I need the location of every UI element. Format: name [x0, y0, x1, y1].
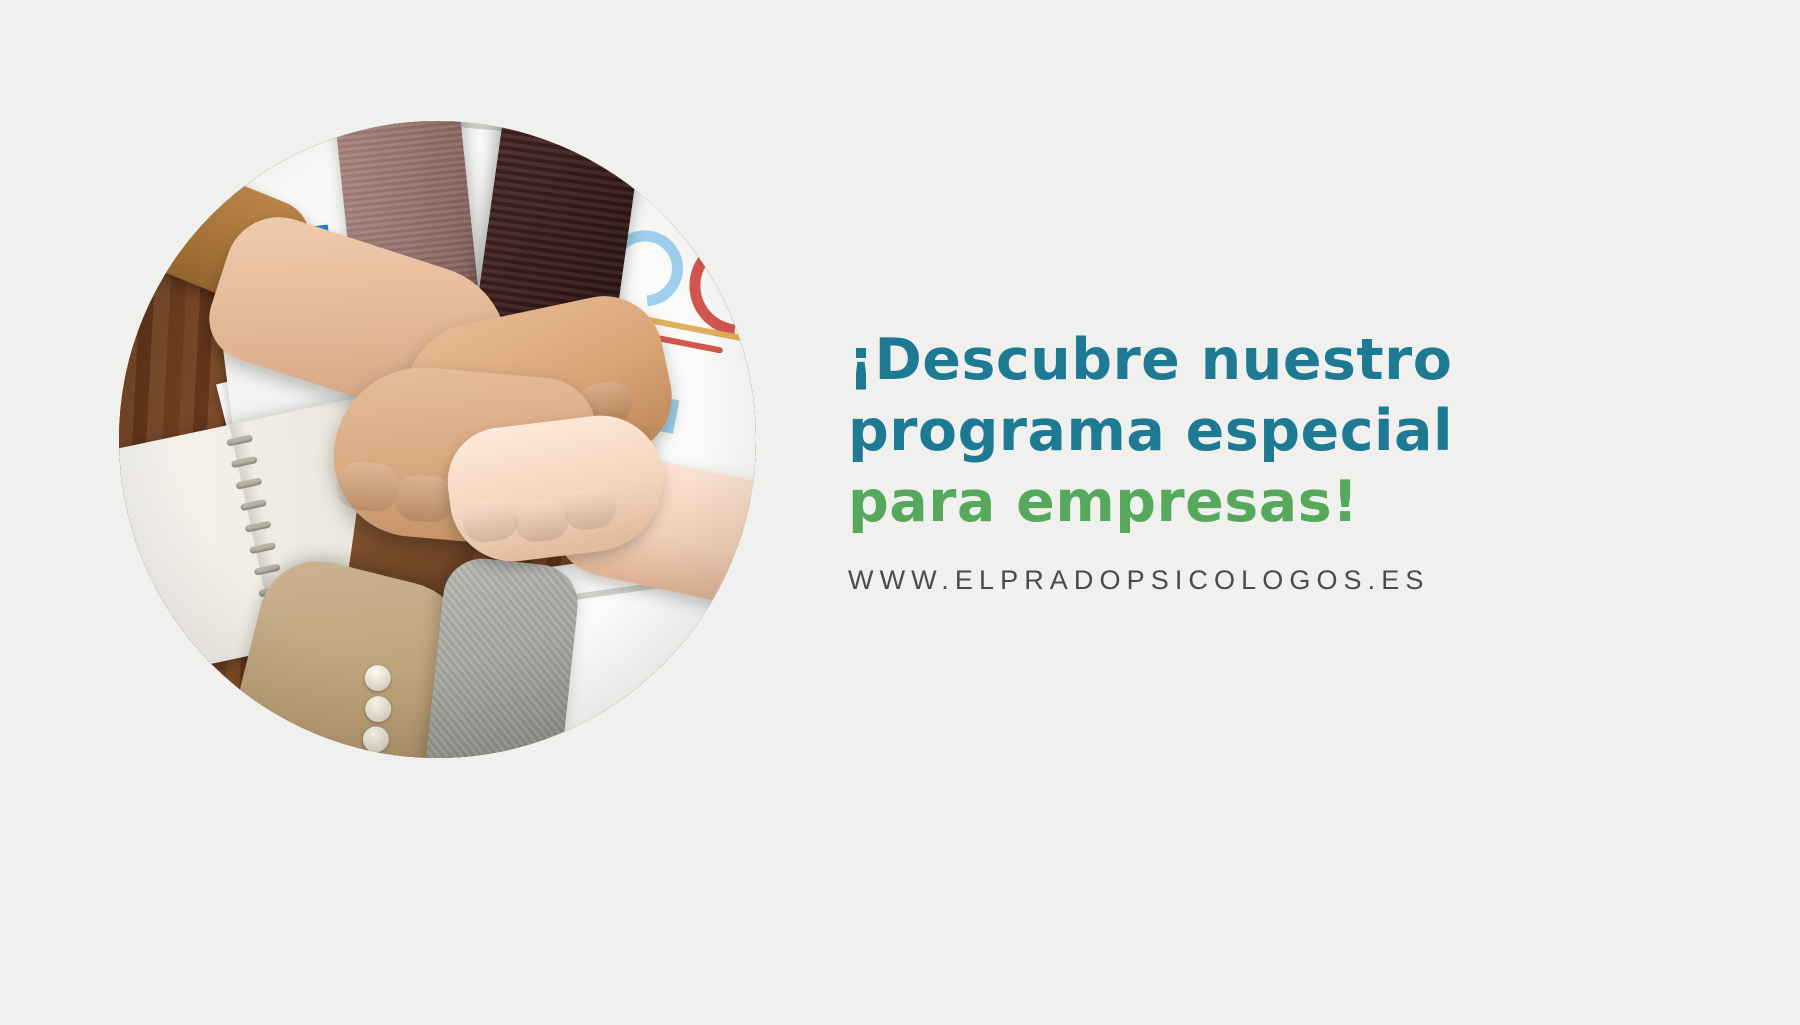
- promo-banner: ¡Descubre nuestro programa especial para…: [0, 0, 1800, 1025]
- photo-scene: [119, 121, 756, 758]
- page-title: ¡Descubre nuestro programa especial para…: [848, 325, 1488, 538]
- headline-line-2: programa especial: [848, 398, 1453, 464]
- website-url[interactable]: WWW.ELPRADOPSICOLOGOS.ES: [848, 565, 1488, 596]
- headline-line-1: ¡Descubre nuestro: [848, 327, 1452, 393]
- team-hands-photo: [119, 121, 756, 758]
- arm-grey-suit: [421, 555, 581, 758]
- headline-accent-line: para empresas!: [848, 467, 1488, 538]
- promo-text-block: ¡Descubre nuestro programa especial para…: [848, 325, 1488, 596]
